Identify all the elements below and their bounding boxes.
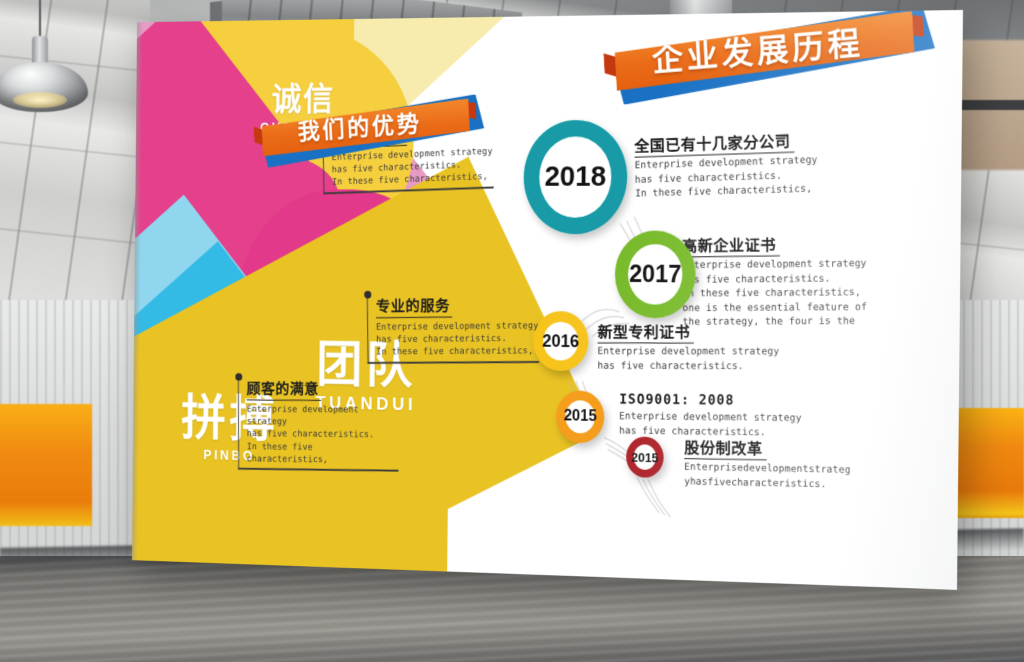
lamp-glow [13,92,67,108]
advantage-block-2: 专业的服务 Enterprise development strategy ha… [367,292,539,364]
advantage-body: Enterprise development strategy has five… [376,320,539,364]
timeline-entry-heading: 股份制改革 [684,435,766,461]
timeline-entry-2017: 高新企业证书 Enterprise development strategy h… [682,230,945,331]
advantage-block-3: 顾客的满意 Enterprise development strategy ha… [238,376,399,472]
advantage-heading: 专业的服务 [376,293,452,319]
timeline-entry-body: Enterprisedevelopmentstrateg yhasfivecha… [684,461,934,494]
culture-wall-board[interactable]: 诚信 CHENGXIN 团队 TUANDUI 拼搏 PINBO [132,10,963,590]
timeline-entry-line: Enterprise development strategy [598,345,852,359]
timeline-entry-heading: ISO9001: 2008 [619,392,738,409]
advantage-bracket [367,296,371,364]
advantage-line: Enterprise development strategy [247,403,399,429]
advantage-line: has five characteristics. [247,428,399,442]
advantage-line: Enterprise development strategy [376,320,539,334]
lamp-cord [39,0,41,40]
advantage-line: In these five characteristics, [247,440,399,466]
timeline-entry-2018: 全国已有十几家分公司 Enterprise development strate… [634,124,903,201]
timeline-entry-2015-reform: 股份制改革 Enterprisedevelopmentstrateg yhasf… [684,435,935,495]
timeline-entry-2016: 新型专利证书 Enterprise development strategy h… [597,319,851,374]
timeline-year-label: 2017 [629,260,681,289]
orange-wall-band-left [0,404,92,526]
timeline-entry-2015-iso: ISO9001: 2008 Enterprise development str… [619,391,876,442]
timeline-entry-heading: 高新企业证书 [682,232,780,258]
banner-label: 企业发展历程 [651,16,865,81]
advantage-heading: 顾客的满意 [247,376,321,401]
advantage-bullet-dot [364,291,371,299]
timeline-year-label: 2015 [631,449,658,464]
timeline-entry-heading: 新型专利证书 [597,319,693,343]
advantage-bracket [238,378,242,470]
timeline-year-label: 2016 [542,331,579,352]
timeline-entry-body: Enterprise development strategy has five… [635,151,903,202]
advantage-line: In these five characteristics, [376,345,539,359]
advantage-bullet-dot [235,373,242,381]
timeline-entry-heading: 全国已有十几家分公司 [634,128,794,158]
advantage-line: has five characteristics. [376,332,539,346]
timeline-entry-line: one is the essential feature of [682,300,944,316]
advantage-body: Enterprise development strategy has five… [247,403,399,471]
timeline-year-label: 2015 [564,408,597,426]
timeline-year-ring: 2015 [626,436,664,478]
timeline-entry-line: has five characteristics. [598,359,852,374]
timeline-year-label: 2018 [544,161,606,194]
timeline-year-ring: 2015 [556,390,605,443]
board-surface: 诚信 CHENGXIN 团队 TUANDUI 拼搏 PINBO [132,10,963,590]
timeline-entry-body: Enterprise development strategy has five… [598,345,852,374]
office-scene: 诚信 CHENGXIN 团队 TUANDUI 拼搏 PINBO [0,0,1024,662]
timeline-year-ring: 2018 [523,120,628,235]
company-timeline: 2018 全国已有十几家分公司 Enterprise development s… [132,10,963,590]
timeline-year-ring: 2016 [533,311,589,372]
